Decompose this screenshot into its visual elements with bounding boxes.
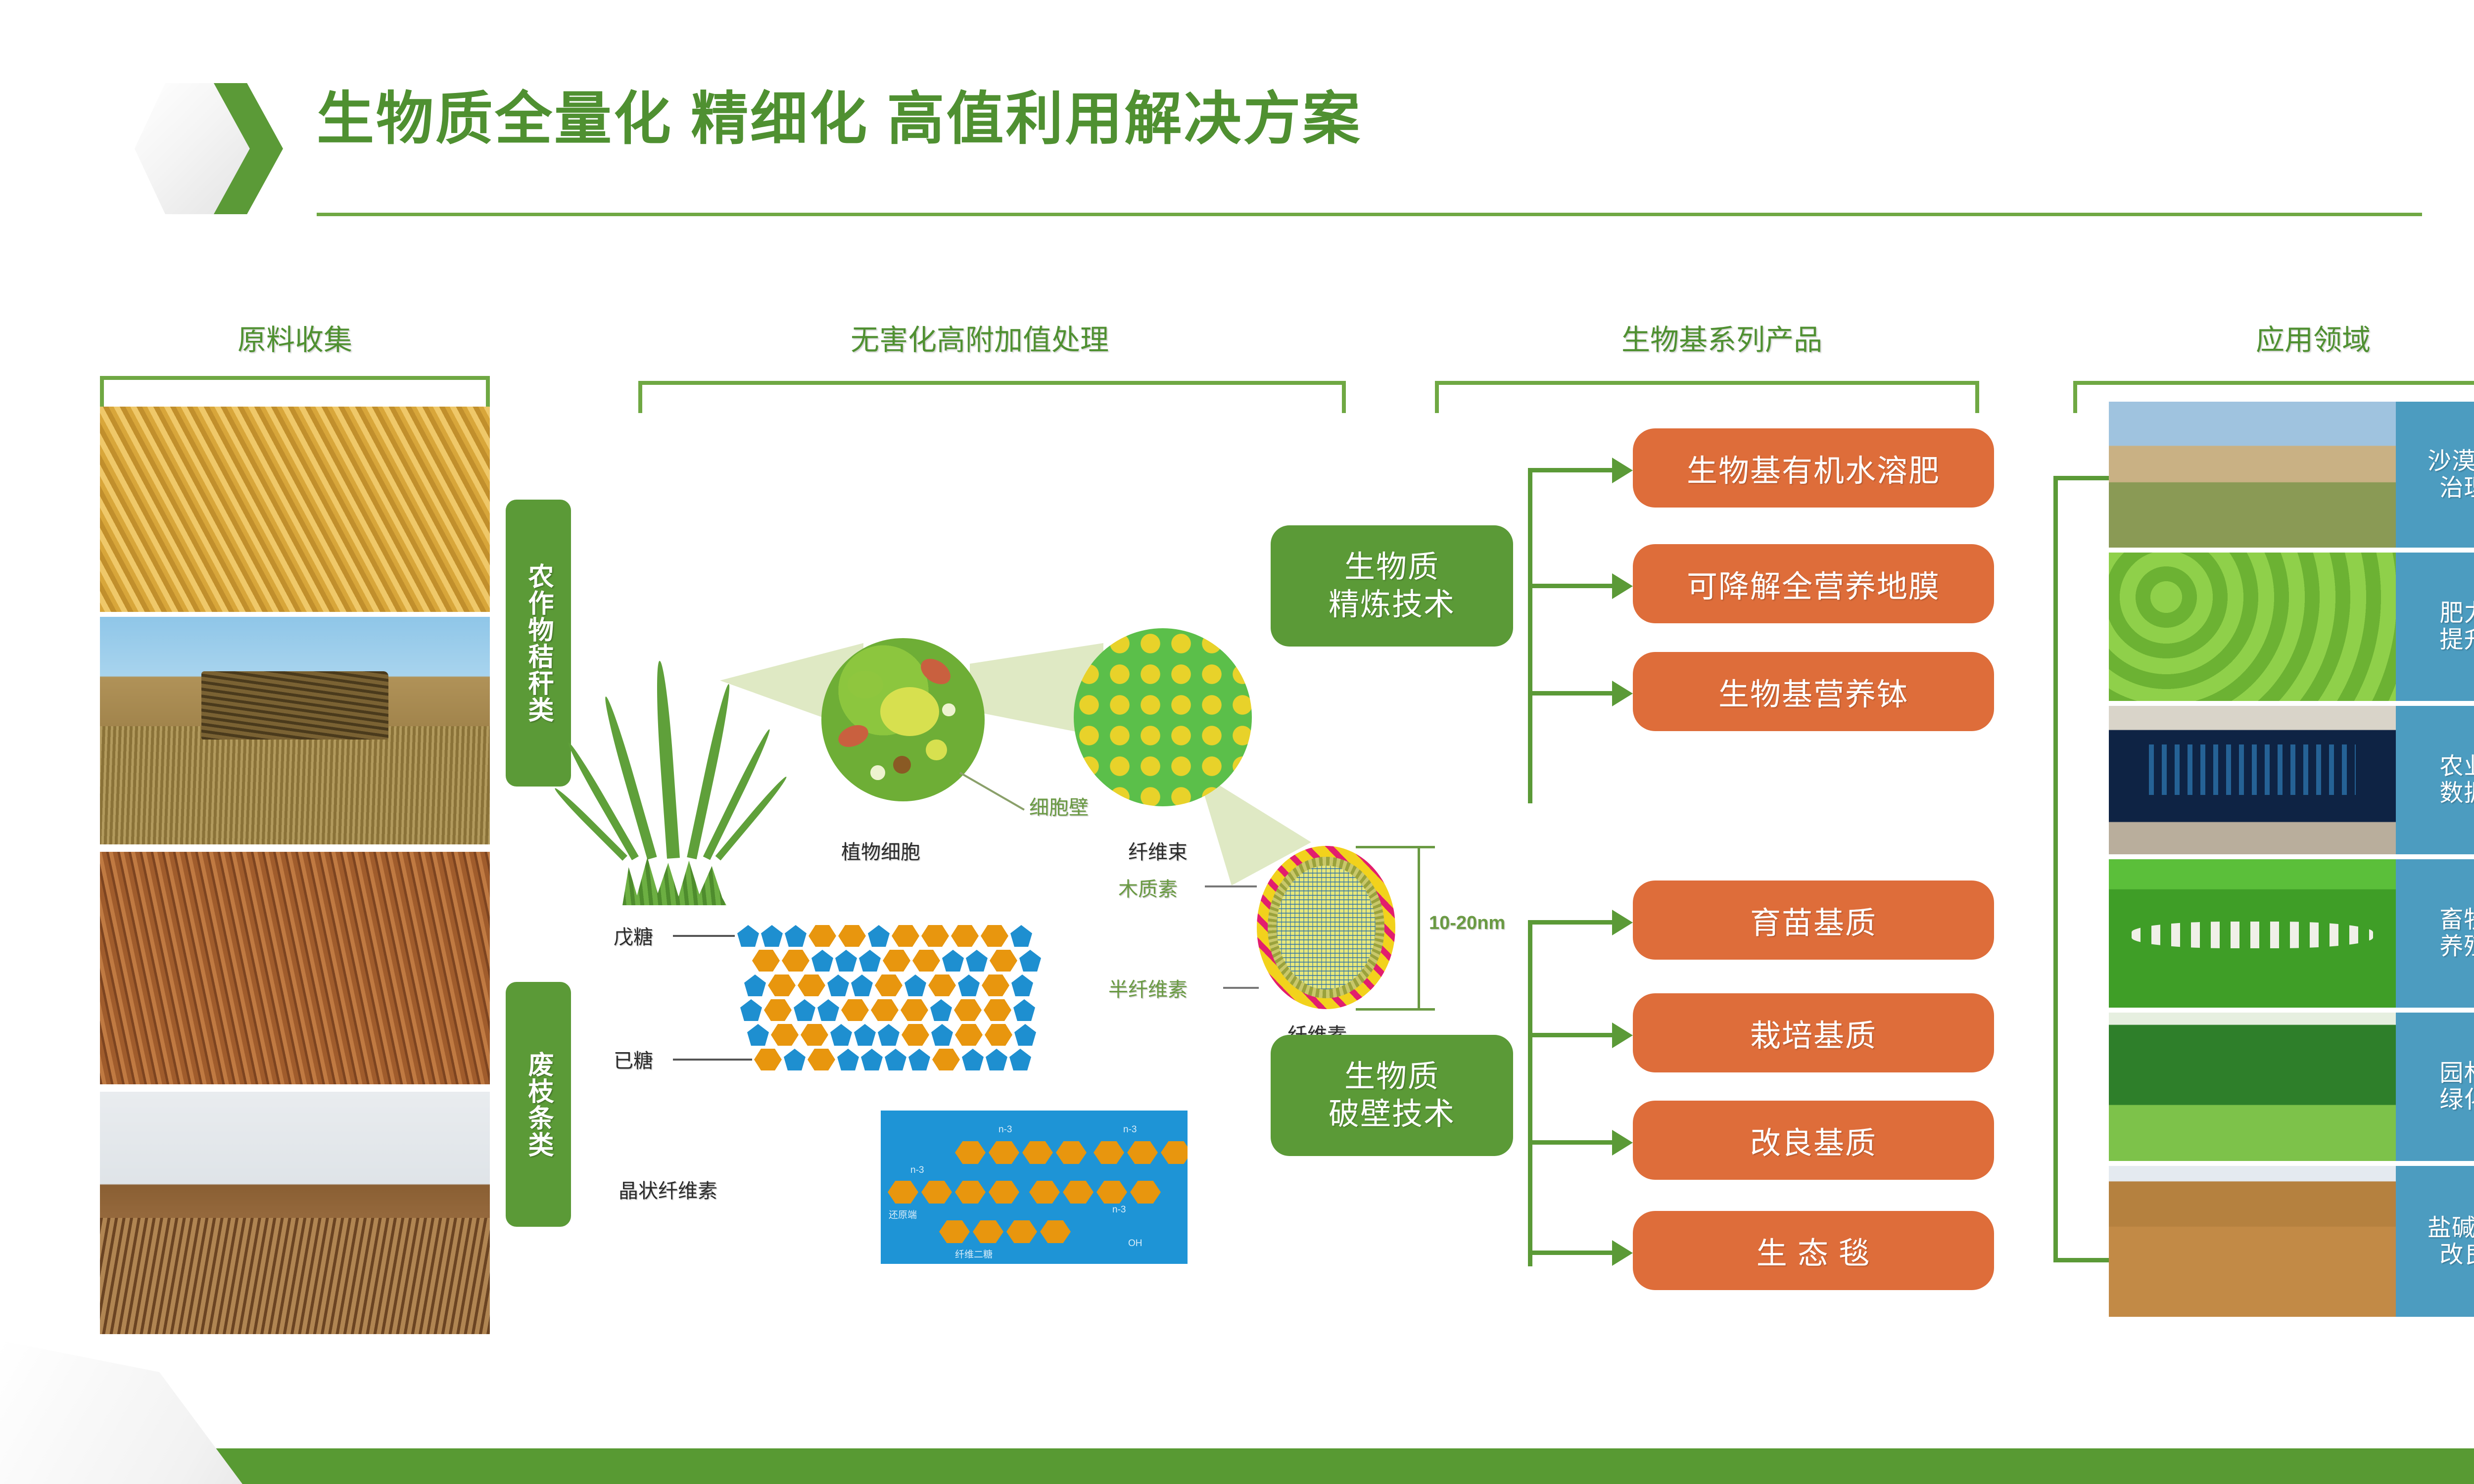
application-label: 园林 绿化	[2396, 1013, 2474, 1161]
plant-cell-label: 植物细胞	[841, 836, 920, 865]
crystal-row	[955, 1141, 1087, 1164]
application-label-line1: 肥力	[2439, 600, 2474, 627]
technology-label-line1: 生物质	[1344, 1058, 1439, 1096]
hexose-label: 已糖	[614, 1045, 653, 1073]
dimension-top-tick	[1356, 846, 1435, 848]
crystal-annotation: n-3	[910, 1165, 924, 1176]
hexose-leader-line	[673, 1059, 752, 1061]
application-label-line1: 盐碱地	[2427, 1215, 2474, 1242]
application-row-saline-alkali[interactable]: 盐碱地 改良	[2109, 1166, 2474, 1317]
product-cultivation-substrate[interactable]: 栽培基质	[1633, 993, 1994, 1072]
application-label: 农业 数据	[2396, 706, 2474, 854]
section-header-label: 原料收集	[100, 317, 490, 358]
arrow-head-icon	[1612, 681, 1633, 706]
connector-branch-wb-3	[1528, 1140, 1615, 1145]
cell-wall-label: 细胞壁	[1029, 791, 1089, 820]
application-label: 盐碱地 改良	[2396, 1166, 2474, 1317]
connector-branch-refining-2	[1528, 584, 1615, 588]
crystal-annotation: 纤维二糖	[955, 1247, 993, 1260]
application-photo	[2109, 1013, 2396, 1161]
product-label: 生 态 毯	[1757, 1228, 1870, 1273]
product-label: 可降解全营养地膜	[1687, 561, 1940, 606]
title-bar: 生物质全量化 精细化 高值利用解决方案	[0, 0, 2474, 247]
technology-label-line1: 生物质	[1344, 549, 1439, 586]
feedstock-photo-baled-straw	[100, 617, 490, 844]
connector-branch-wb-2	[1528, 1033, 1615, 1037]
crystal-row	[888, 1181, 1019, 1204]
sugar-row	[744, 974, 1189, 996]
application-label-line1: 农业	[2439, 753, 2474, 780]
technology-label-line2: 破壁技术	[1329, 1096, 1455, 1133]
application-photo	[2109, 402, 2396, 548]
fiber-cross-section-icon	[1257, 846, 1395, 1009]
pentose-leader-line	[673, 935, 735, 937]
connector-branch-wb-4	[1528, 1251, 1615, 1255]
dimension-vertical-line	[1418, 846, 1420, 1011]
sugar-row	[754, 1049, 1199, 1070]
arrow-head-icon	[1612, 1130, 1633, 1156]
section-header-label: 应用领域	[2093, 317, 2474, 358]
page-title: 生物质全量化 精细化 高值利用解决方案	[317, 85, 1362, 153]
application-label-line1: 沙漠化	[2427, 448, 2474, 475]
plant-illustration-icon	[618, 643, 731, 905]
feedstock-photo-corn-straw	[100, 407, 490, 612]
title-underline-divider	[317, 213, 2422, 216]
application-label-line2: 养殖	[2439, 933, 2474, 960]
product-label: 生物基营养钵	[1718, 669, 1908, 714]
crystalline-cellulose-label: 晶状纤维素	[618, 1175, 717, 1204]
product-label: 生物基有机水溶肥	[1687, 446, 1940, 490]
arrow-head-icon	[1612, 458, 1633, 483]
application-row-agriculture-data[interactable]: 农业 数据	[2109, 706, 2474, 854]
section-header-label: 生物基系列产品	[1425, 317, 2019, 358]
feedstock-category-crop-straw: 农作物秸秆类	[506, 500, 571, 787]
crystal-annotation: n-3	[1123, 1124, 1137, 1135]
arrow-head-icon	[1612, 910, 1633, 935]
feedstock-category-waste-branch: 废枝条类	[506, 982, 571, 1227]
cellulose-core-icon	[1277, 866, 1376, 989]
product-label: 改良基质	[1750, 1118, 1877, 1162]
connector-branch-refining-3	[1528, 691, 1615, 696]
application-photo	[2109, 553, 2396, 701]
feedstock-category-label: 废枝条类	[525, 1051, 552, 1158]
crystal-row	[1029, 1181, 1161, 1204]
section-bracket-products	[1435, 381, 1979, 413]
application-label: 肥力 提升	[2396, 553, 2474, 701]
arrow-head-icon	[1612, 1022, 1633, 1048]
section-header-products: 生物基系列产品	[1425, 317, 2019, 358]
fiber-bundle-illustration-icon	[1074, 628, 1252, 806]
arrow-head-icon	[1612, 1240, 1633, 1266]
product-label: 育苗基质	[1750, 898, 1877, 942]
application-label-line2: 治理	[2439, 475, 2474, 502]
connector-trunk-refining	[1528, 468, 1532, 803]
grass-tuft-icon	[622, 851, 726, 905]
application-label-line1: 园林	[2439, 1060, 2474, 1087]
hemicellulose-leader-line	[1223, 987, 1259, 989]
arrow-head-icon	[1612, 573, 1633, 599]
bottom-accent-bar	[0, 1448, 2474, 1484]
sugar-chain-diagram	[737, 925, 1183, 1083]
product-degradable-nutrient-mulch-film[interactable]: 可降解全营养地膜	[1633, 544, 1994, 623]
pentose-label: 戊糖	[614, 921, 653, 950]
crystal-annotation: 还原端	[889, 1207, 917, 1221]
section-header-applications: 应用领域	[2093, 317, 2474, 358]
feedstock-photo-pruned-branches	[100, 852, 490, 1084]
hexagon-logo-icon	[135, 83, 283, 214]
product-improvement-substrate[interactable]: 改良基质	[1633, 1101, 1994, 1180]
application-label-line2: 数据	[2439, 780, 2474, 807]
application-row-fertility[interactable]: 肥力 提升	[2109, 553, 2474, 701]
application-row-livestock[interactable]: 畜牧 养殖	[2109, 859, 2474, 1008]
product-ecological-blanket[interactable]: 生 态 毯	[1633, 1211, 1994, 1290]
lignin-leader-line	[1205, 885, 1257, 887]
product-seedling-substrate[interactable]: 育苗基质	[1633, 881, 1994, 960]
connector-branch-refining-1	[1528, 468, 1615, 472]
section-header-feedstock: 原料收集	[100, 317, 490, 358]
crystal-annotation: n-3	[999, 1124, 1012, 1135]
sugar-row	[740, 999, 1186, 1021]
application-photo	[2109, 859, 2396, 1008]
crystalline-cellulose-panel: n-3 n-3 n-3 n-3 还原端 纤维二糖 OH	[881, 1111, 1188, 1264]
application-photo	[2109, 1166, 2396, 1317]
section-bracket-feedstock	[100, 376, 490, 408]
cell-wall-leader-line	[959, 772, 1025, 810]
feedstock-category-label: 农作物秸秆类	[525, 563, 552, 723]
plant-cell-illustration-icon	[821, 638, 985, 801]
application-label: 畜牧 养殖	[2396, 859, 2474, 1008]
section-bracket-processing	[638, 381, 1346, 413]
section-header-label: 无害化高附加值处理	[638, 317, 1321, 358]
applications-inflow-bracket	[2053, 476, 2113, 1262]
application-label-line2: 改良	[2439, 1242, 2474, 1268]
application-label-line2: 提升	[2439, 627, 2474, 653]
application-label: 沙漠化 治理	[2396, 402, 2474, 548]
fiber-bundle-label: 纤维束	[1128, 836, 1188, 865]
technology-label-line2: 精炼技术	[1329, 586, 1455, 624]
dimension-bottom-tick	[1356, 1008, 1435, 1011]
sugar-row	[747, 1024, 1192, 1046]
crystal-annotation: n-3	[1112, 1205, 1126, 1215]
connector-branch-wb-1	[1528, 920, 1615, 925]
technology-biomass-refining[interactable]: 生物质 精炼技术	[1271, 525, 1513, 647]
crystal-row	[939, 1220, 1071, 1243]
technology-biomass-wall-breaking[interactable]: 生物质 破壁技术	[1271, 1035, 1513, 1156]
dimension-label: 10-20nm	[1429, 913, 1505, 934]
crystal-row	[1094, 1141, 1188, 1164]
sugar-row	[752, 950, 1197, 972]
application-label-line2: 绿化	[2439, 1087, 2474, 1113]
application-photo	[2109, 706, 2396, 854]
applications-column: 沙漠化 治理 肥力 提升 农业 数据 畜牧 养殖 园林 绿化 盐碱地	[2109, 402, 2474, 1356]
section-header-processing: 无害化高附加值处理	[638, 317, 1321, 358]
application-row-landscaping[interactable]: 园林 绿化	[2109, 1013, 2474, 1161]
product-bio-nutrition-pot[interactable]: 生物基营养钵	[1633, 652, 1994, 731]
product-bio-organic-water-soluble-fertilizer[interactable]: 生物基有机水溶肥	[1633, 428, 1994, 508]
application-row-desertification[interactable]: 沙漠化 治理	[2109, 402, 2474, 548]
product-label: 栽培基质	[1750, 1011, 1877, 1055]
application-label-line1: 畜牧	[2439, 907, 2474, 933]
feedstock-photo-column	[100, 407, 490, 1335]
connector-trunk-wallbreaking	[1528, 920, 1532, 1266]
sugar-row	[737, 925, 1183, 947]
feedstock-photo-orchard-branches	[100, 1092, 490, 1334]
crystal-annotation: OH	[1128, 1238, 1142, 1249]
lignin-label: 木质素	[1118, 873, 1178, 902]
